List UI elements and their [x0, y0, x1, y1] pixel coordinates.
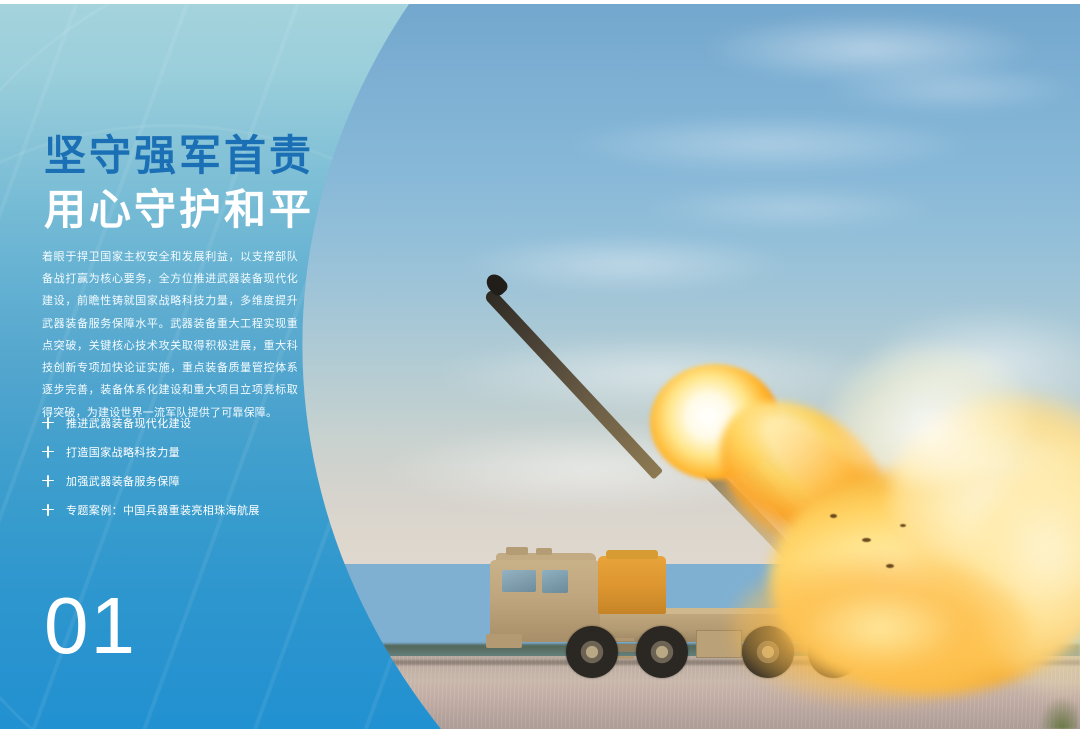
page-title-line1: 坚守强军首责: [44, 132, 314, 181]
list-item[interactable]: 专题案例：中国兵器重装亮相珠海航展: [40, 495, 340, 524]
left-content: 坚守强军首责 用心守护和平 着眼于捍卫国家主权安全和发展利益，以支撑部队备战打赢…: [0, 0, 400, 729]
debris-sparks: [790, 494, 990, 614]
body-paragraph: 着眼于捍卫国家主权安全和发展利益，以支撑部队备战打赢为核心要务，全方位推进武器装…: [42, 246, 298, 424]
vehicle-side-window: [542, 570, 568, 593]
page-title-line2: 用心守护和平: [44, 186, 314, 235]
cloud: [640, 184, 940, 232]
star-bullet-icon: [40, 473, 56, 489]
vehicle-roof-accessory: [506, 547, 528, 555]
list-item-label: 打造国家战略科技力量: [66, 444, 180, 460]
slide-page: 坚守强军首责 用心守护和平 着眼于捍卫国家主权安全和发展利益，以支撑部队备战打赢…: [0, 0, 1080, 729]
bullet-list: 推进武器装备现代化建设 打造国家战略科技力量 加强武器装备服务保障 专题案例：中…: [40, 408, 340, 524]
star-bullet-icon: [40, 444, 56, 460]
cloud: [820, 64, 1080, 114]
list-item-label: 加强武器装备服务保障: [66, 473, 180, 489]
vehicle-bumper: [486, 634, 522, 648]
list-item[interactable]: 加强武器装备服务保障: [40, 466, 340, 495]
vehicle-windshield: [502, 570, 536, 592]
star-bullet-icon: [40, 415, 56, 431]
list-item-label: 专题案例：中国兵器重装亮相珠海航展: [66, 502, 260, 518]
section-number: 01: [44, 586, 137, 666]
list-item[interactable]: 打造国家战略科技力量: [40, 437, 340, 466]
star-bullet-icon: [40, 502, 56, 518]
list-item[interactable]: 推进武器装备现代化建设: [40, 408, 340, 437]
smoke-plume: [770, 404, 1080, 704]
vehicle-roof-accessory: [536, 548, 552, 555]
list-item-label: 推进武器装备现代化建设: [66, 415, 191, 431]
smoke-cloud: [830, 344, 1030, 484]
cloud: [560, 114, 980, 174]
